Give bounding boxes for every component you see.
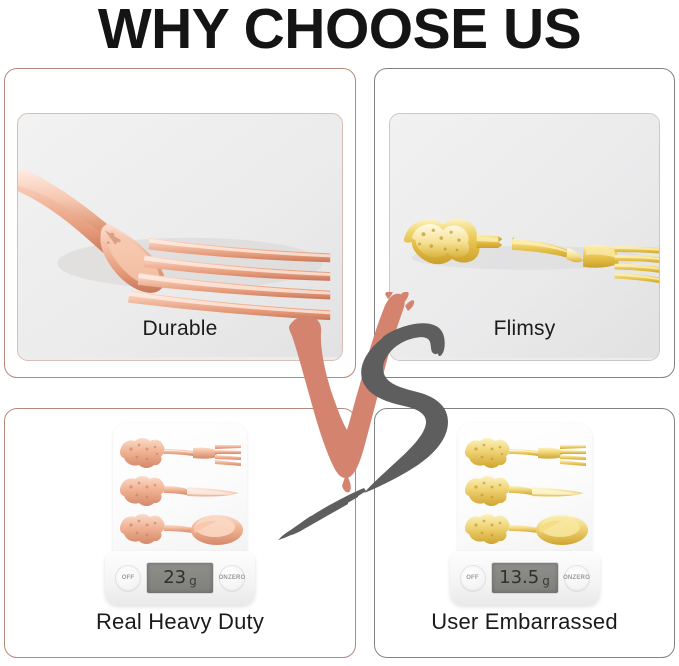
scale-on-zero-button[interactable]: ON ZERO xyxy=(219,565,245,591)
scale-platform xyxy=(113,423,247,563)
comparison-infographic: WHY CHOOSE US xyxy=(0,0,679,666)
scale-on-zero-label-top: ON xyxy=(219,575,228,582)
page-title: WHY CHOOSE US xyxy=(0,0,679,60)
scale-on-zero-button[interactable]: ON ZERO xyxy=(564,565,590,591)
scale-on-zero-label-bottom: ZERO xyxy=(572,575,589,582)
scale-body: OFF 23 g ON ZERO xyxy=(105,551,255,605)
gold-cutlery-icon xyxy=(458,423,592,563)
scale-off-button[interactable]: OFF xyxy=(115,565,141,591)
scale-weight-value: 13.5 xyxy=(499,569,539,587)
user-embarrassed-label: User Embarrassed xyxy=(375,609,674,635)
panel-real-heavy-duty: OFF 23 g ON ZERO Real Heavy Duty xyxy=(4,408,356,658)
scale-off-button[interactable]: OFF xyxy=(460,565,486,591)
scale-weight-unit: g xyxy=(542,570,550,587)
rose-gold-cutlery-icon xyxy=(113,423,247,563)
real-heavy-duty-label: Real Heavy Duty xyxy=(5,609,355,635)
durable-label: Durable xyxy=(5,317,355,341)
scale-lcd-display: 13.5 g xyxy=(491,562,559,594)
scale-lcd-display: 23 g xyxy=(146,562,214,594)
scale-weight-value: 23 xyxy=(163,569,186,587)
scale-platform xyxy=(458,423,592,563)
flimsy-label: Flimsy xyxy=(375,317,674,341)
scale-off-label: OFF xyxy=(466,575,479,582)
panel-flimsy: Flimsy xyxy=(374,68,675,378)
scale-off-label: OFF xyxy=(122,575,135,582)
rose-gold-scale: OFF 23 g ON ZERO xyxy=(105,423,255,605)
panel-durable: Durable xyxy=(4,68,356,378)
scale-body: OFF 13.5 g ON ZERO xyxy=(450,551,600,605)
gold-scale: OFF 13.5 g ON ZERO xyxy=(450,423,600,605)
scale-on-zero-label-bottom: ZERO xyxy=(228,575,245,582)
scale-weight-unit: g xyxy=(189,570,197,587)
panel-user-embarrassed: OFF 13.5 g ON ZERO User Embarrassed xyxy=(374,408,675,658)
scale-on-zero-label-top: ON xyxy=(563,575,572,582)
